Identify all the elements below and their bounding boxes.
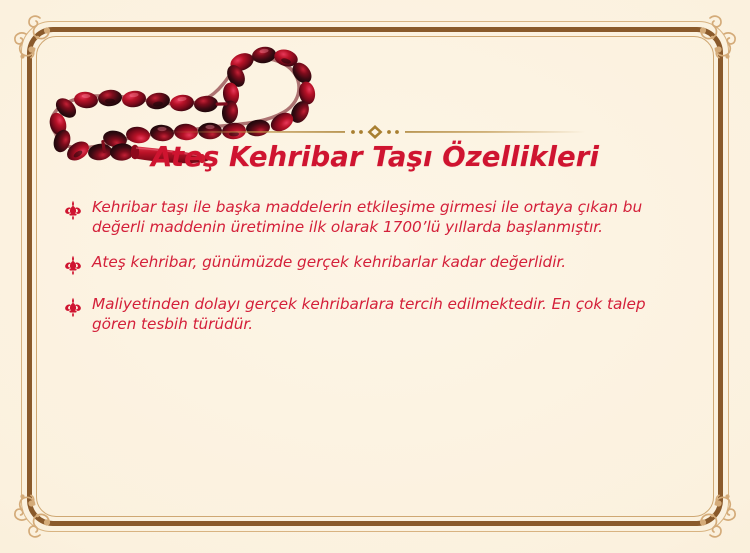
fleur-de-lis-icon xyxy=(64,200,82,220)
corner-ornament-top-right xyxy=(680,6,744,70)
feature-list: Kehribar taşı ile başka maddelerin etkil… xyxy=(64,198,688,350)
list-item: Maliyetinden dolayı gerçek kehribarlara … xyxy=(64,295,688,334)
list-item-text: Ateş kehribar, günümüzde gerçek kehribar… xyxy=(92,253,688,273)
page-title: Ateş Kehribar Taşı Özellikleri xyxy=(0,142,750,173)
corner-ornament-bottom-left xyxy=(6,483,70,547)
list-item-text: Maliyetinden dolayı gerçek kehribarlara … xyxy=(92,295,688,334)
list-item: Kehribar taşı ile başka maddelerin etkil… xyxy=(64,198,688,237)
info-card: Ateş Kehribar Taşı Özellikleri Kehribar … xyxy=(0,0,750,553)
list-item-text: Kehribar taşı ile başka maddelerin etkil… xyxy=(92,198,688,237)
title-block: Ateş Kehribar Taşı Özellikleri xyxy=(0,124,750,173)
fleur-de-lis-icon xyxy=(64,255,82,275)
gold-diamond-divider xyxy=(165,124,585,140)
list-item: Ateş kehribar, günümüzde gerçek kehribar… xyxy=(64,253,688,275)
corner-ornament-bottom-right xyxy=(680,483,744,547)
fleur-de-lis-icon xyxy=(64,297,82,317)
